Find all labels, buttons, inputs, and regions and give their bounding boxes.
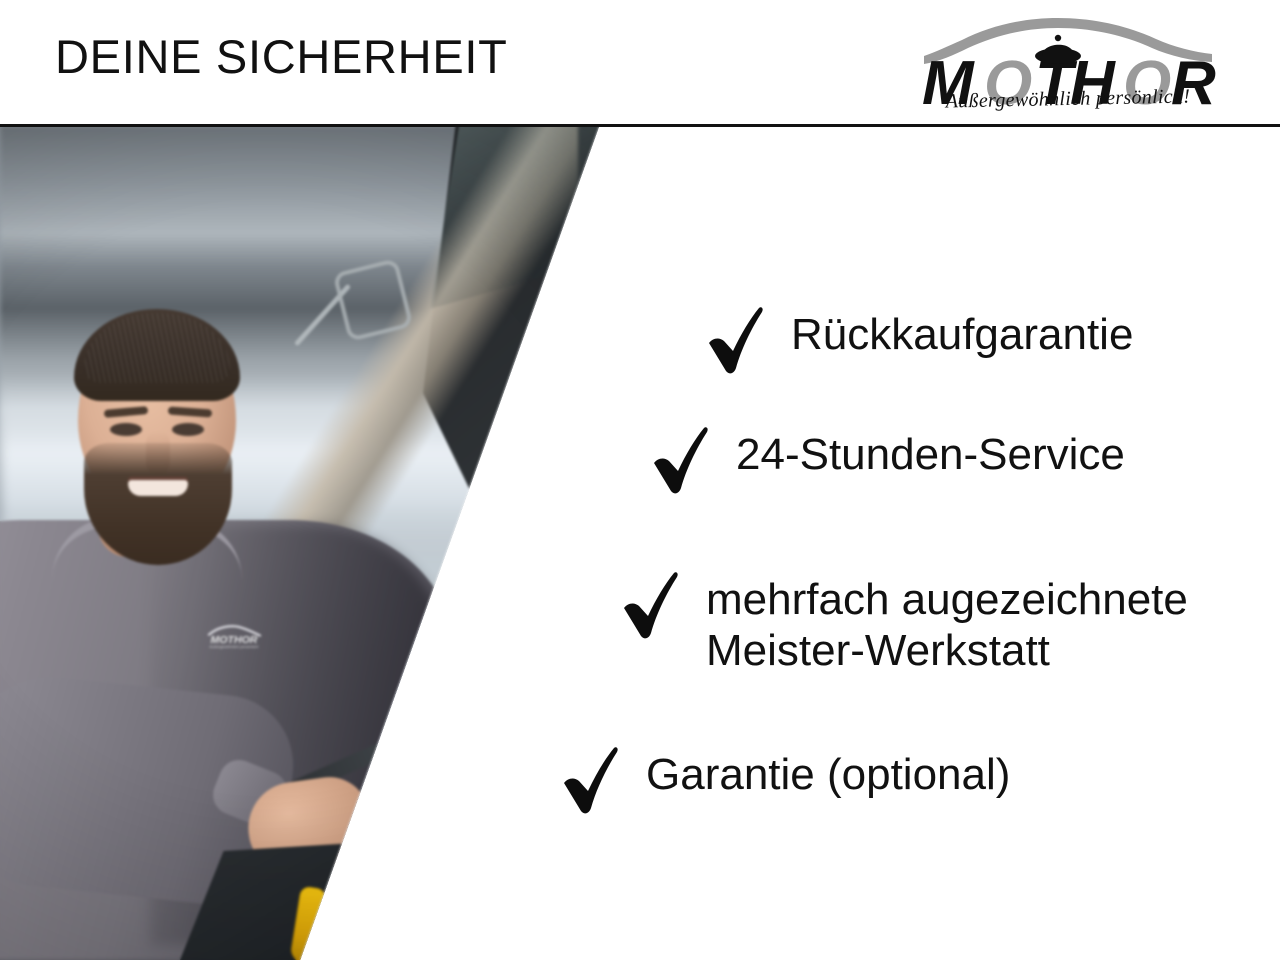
benefit-item: Garantie (optional) [560,745,1010,815]
svg-text:Außergewöhnlich persönlich!: Außergewöhnlich persönlich! [209,645,258,649]
benefit-item: 24-Stunden-Service [650,425,1125,495]
page-title: DEINE SICHERHEIT [55,33,508,80]
check-icon [705,305,767,375]
check-icon [560,745,622,815]
benefit-label: Rückkaufgarantie [791,305,1133,360]
benefits-list: Rückkaufgarantie 24-Stunden-Service mehr… [520,125,1280,960]
svg-text:MOTHOR: MOTHOR [211,634,258,646]
hand-right [365,815,468,906]
shirt-mothor-logo: MOTHOR Außergewöhnlich persönlich! [205,625,263,649]
check-icon [650,425,712,495]
coolant-reservoir [358,873,450,960]
header-divider [0,124,1280,127]
benefit-label: Garantie (optional) [646,745,1010,800]
benefit-label: 24-Stunden-Service [736,425,1125,480]
eye-left [110,423,142,436]
benefit-item: Rückkaufgarantie [705,305,1133,375]
slide-root: MOTHOR Außergewöhnlich persönlich! [0,0,1280,960]
smiling-mouth [128,480,188,496]
eye-right [172,423,204,436]
check-icon [620,570,682,640]
benefit-label: mehrfach augezeichnete Meister-Werkstatt [706,570,1188,676]
benefit-item: mehrfach augezeichnete Meister-Werkstatt [620,570,1188,676]
